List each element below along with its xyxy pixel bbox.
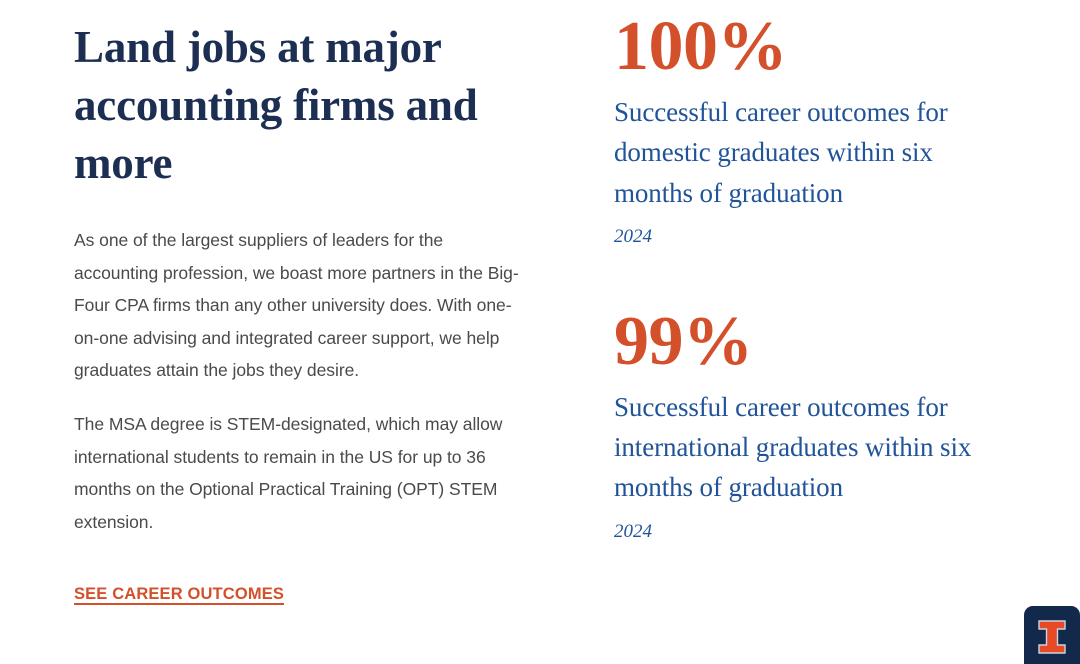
illinois-badge-button[interactable]	[1024, 606, 1080, 664]
intro-column: Land jobs at major accounting firms and …	[74, 18, 526, 604]
stat-year: 2024	[614, 520, 1014, 544]
stat-year: 2024	[614, 225, 1014, 249]
see-career-outcomes-link[interactable]: SEE CAREER OUTCOMES	[74, 584, 284, 604]
intro-paragraph-2: The MSA degree is STEM-designated, which…	[74, 408, 526, 538]
stat-card-domestic: 100% Successful career outcomes for dome…	[614, 6, 1014, 249]
stat-figure: 100%	[614, 6, 1014, 88]
illinois-block-i-icon	[1037, 620, 1067, 654]
stat-figure: 99%	[614, 301, 1014, 383]
stat-description: Successful career outcomes for internati…	[614, 387, 1014, 508]
stat-description: Successful career outcomes for domestic …	[614, 92, 1014, 213]
page-title: Land jobs at major accounting firms and …	[74, 18, 526, 192]
stat-card-international: 99% Successful career outcomes for inter…	[614, 301, 1014, 544]
stats-column: 100% Successful career outcomes for dome…	[614, 6, 1014, 544]
page-root: Land jobs at major accounting firms and …	[0, 0, 1080, 664]
intro-paragraph-1: As one of the largest suppliers of leade…	[74, 224, 526, 387]
